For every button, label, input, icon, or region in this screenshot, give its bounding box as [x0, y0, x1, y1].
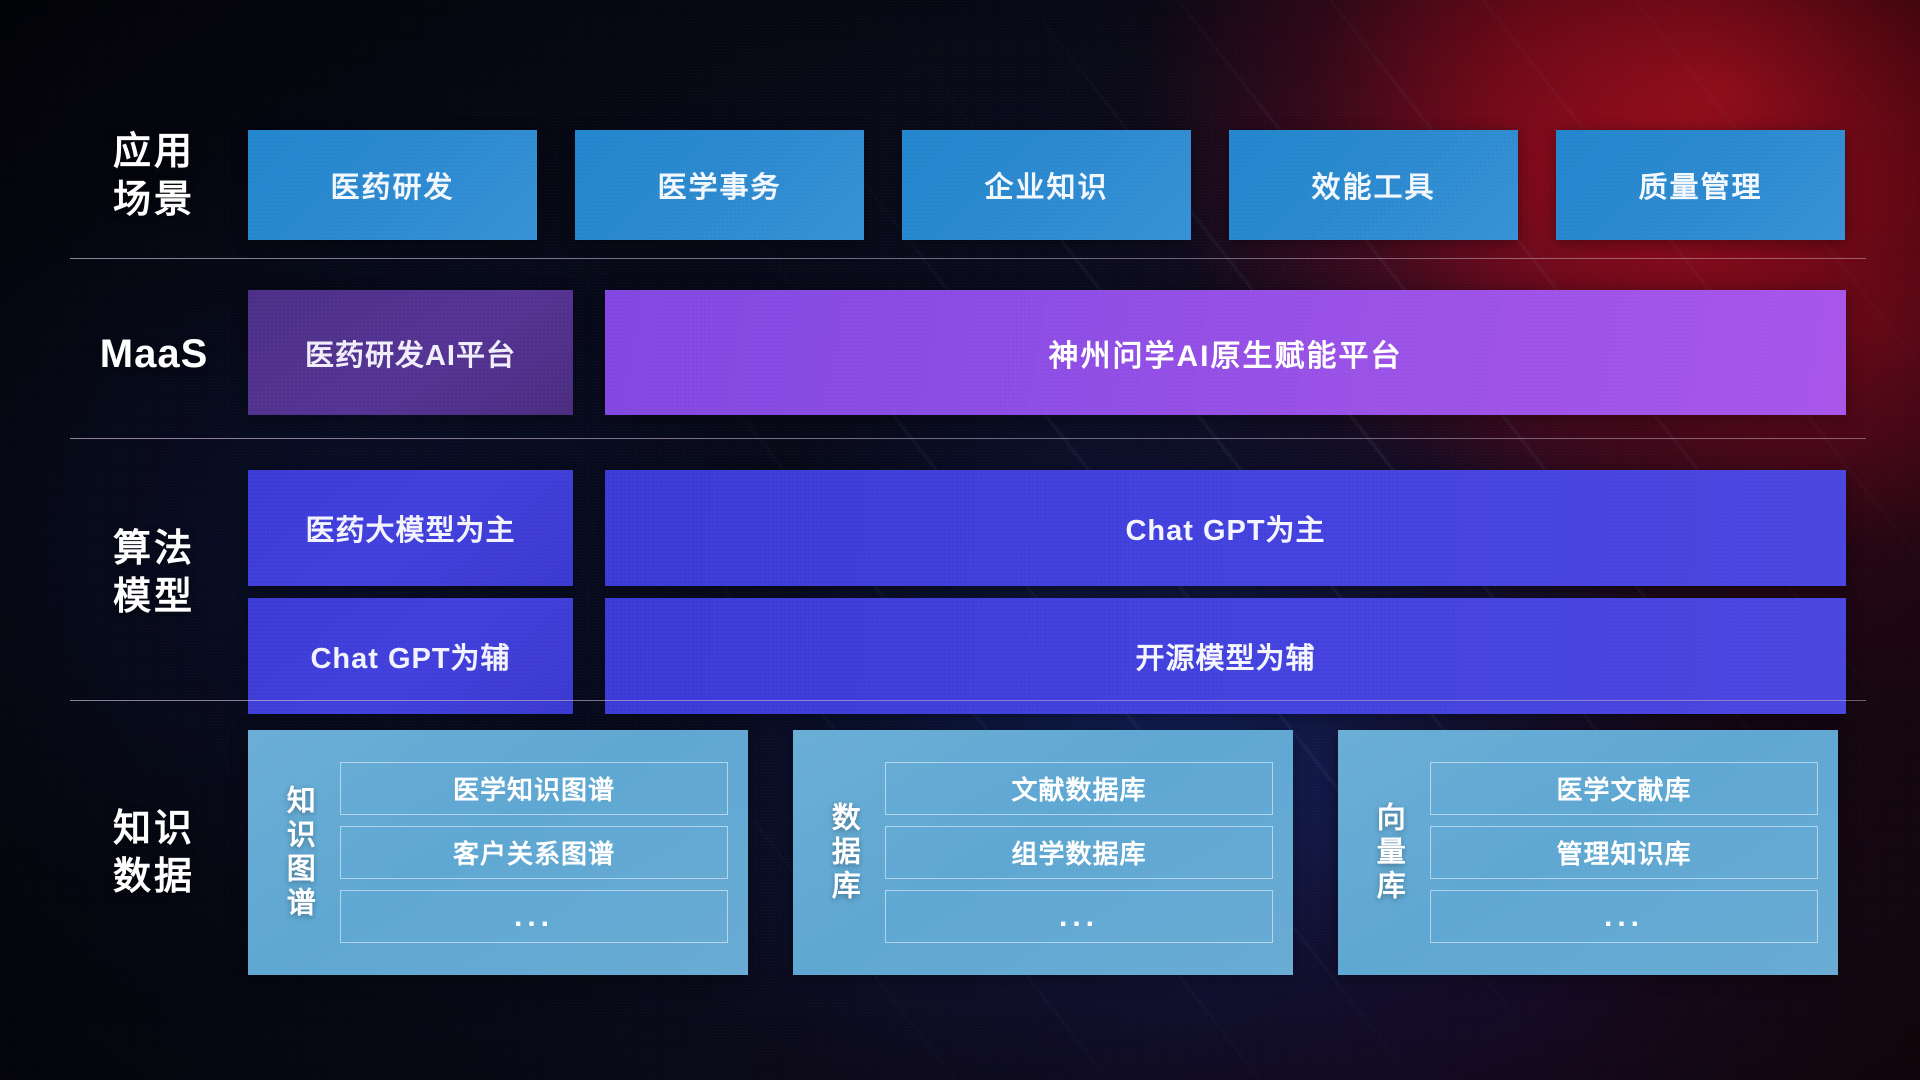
row-label-line-1: 应用	[70, 128, 238, 176]
knowledge-data-row: 知识图谱 医学知识图谱 客户关系图谱 ... 数据库 文献数据库 组学数据库 .…	[248, 730, 1838, 975]
knowledge-item-more[interactable]: ...	[340, 890, 728, 943]
maas-box-drug-rd-ai-platform[interactable]: 医药研发AI平台	[248, 290, 573, 415]
algorithm-model-row: 医药大模型为主 Chat GPT为主 Chat GPT为辅 开源模型为辅	[248, 470, 1846, 726]
app-box-drug-rd[interactable]: 医药研发	[248, 130, 537, 240]
architecture-diagram: 应用 场景 医药研发 医学事务 企业知识 效能工具 质量管理 MaaS 医药研发…	[0, 0, 1920, 1080]
row-label-maas: MaaS	[70, 330, 238, 378]
knowledge-card-vertical-label: 数据库	[811, 744, 875, 961]
knowledge-item-medical-knowledge-graph[interactable]: 医学知识图谱	[340, 762, 728, 815]
algo-box-chatgpt-secondary[interactable]: Chat GPT为辅	[248, 598, 573, 714]
knowledge-item-customer-relation-graph[interactable]: 客户关系图谱	[340, 826, 728, 879]
algorithm-model-line-1: 医药大模型为主 Chat GPT为主	[248, 470, 1846, 586]
maas-box-shenzhou-wenxue-platform[interactable]: 神州问学AI原生赋能平台	[605, 290, 1846, 415]
knowledge-item-medical-literature-library[interactable]: 医学文献库	[1430, 762, 1818, 815]
algo-box-opensource-model-secondary[interactable]: 开源模型为辅	[605, 598, 1846, 714]
row-label-line-1: 知识	[70, 805, 238, 853]
knowledge-item-omics-database[interactable]: 组学数据库	[885, 826, 1273, 879]
algo-box-chatgpt-primary[interactable]: Chat GPT为主	[605, 470, 1846, 586]
knowledge-item-more[interactable]: ...	[885, 890, 1273, 943]
knowledge-card-item-list: 文献数据库 组学数据库 ...	[885, 762, 1273, 943]
algo-box-pharma-large-model-primary[interactable]: 医药大模型为主	[248, 470, 573, 586]
knowledge-item-more[interactable]: ...	[1430, 890, 1818, 943]
divider-row1-row2	[70, 258, 1866, 259]
knowledge-card-vertical-label: 向量库	[1356, 744, 1420, 961]
knowledge-item-literature-database[interactable]: 文献数据库	[885, 762, 1273, 815]
knowledge-item-management-knowledge-library[interactable]: 管理知识库	[1430, 826, 1818, 879]
row-label-line-1: 算法	[70, 525, 238, 573]
row-label-algorithm-model: 算法 模型	[70, 525, 238, 621]
app-box-efficiency-tools[interactable]: 效能工具	[1229, 130, 1518, 240]
maas-row: 医药研发AI平台 神州问学AI原生赋能平台	[248, 290, 1846, 415]
knowledge-card-item-list: 医学文献库 管理知识库 ...	[1430, 762, 1818, 943]
knowledge-card-vector-database[interactable]: 向量库 医学文献库 管理知识库 ...	[1338, 730, 1838, 975]
application-scenarios-row: 医药研发 医学事务 企业知识 效能工具 质量管理	[248, 130, 1845, 240]
row-label-line-2: 场景	[70, 176, 238, 224]
row-label-application-scenarios: 应用 场景	[70, 128, 238, 224]
knowledge-card-database[interactable]: 数据库 文献数据库 组学数据库 ...	[793, 730, 1293, 975]
app-box-enterprise-knowledge[interactable]: 企业知识	[902, 130, 1191, 240]
divider-row2-row3	[70, 438, 1866, 439]
row-label-knowledge-data: 知识 数据	[70, 805, 238, 901]
knowledge-card-knowledge-graph[interactable]: 知识图谱 医学知识图谱 客户关系图谱 ...	[248, 730, 748, 975]
app-box-medical-affairs[interactable]: 医学事务	[575, 130, 864, 240]
divider-row3-row4	[70, 700, 1866, 701]
row-label-line-2: 数据	[70, 853, 238, 901]
slide-canvas: 应用 场景 医药研发 医学事务 企业知识 效能工具 质量管理 MaaS 医药研发…	[0, 0, 1920, 1080]
knowledge-card-vertical-label: 知识图谱	[266, 744, 330, 961]
knowledge-card-item-list: 医学知识图谱 客户关系图谱 ...	[340, 762, 728, 943]
app-box-quality-management[interactable]: 质量管理	[1556, 130, 1845, 240]
row-label-line-2: 模型	[70, 573, 238, 621]
algorithm-model-line-2: Chat GPT为辅 开源模型为辅	[248, 598, 1846, 714]
